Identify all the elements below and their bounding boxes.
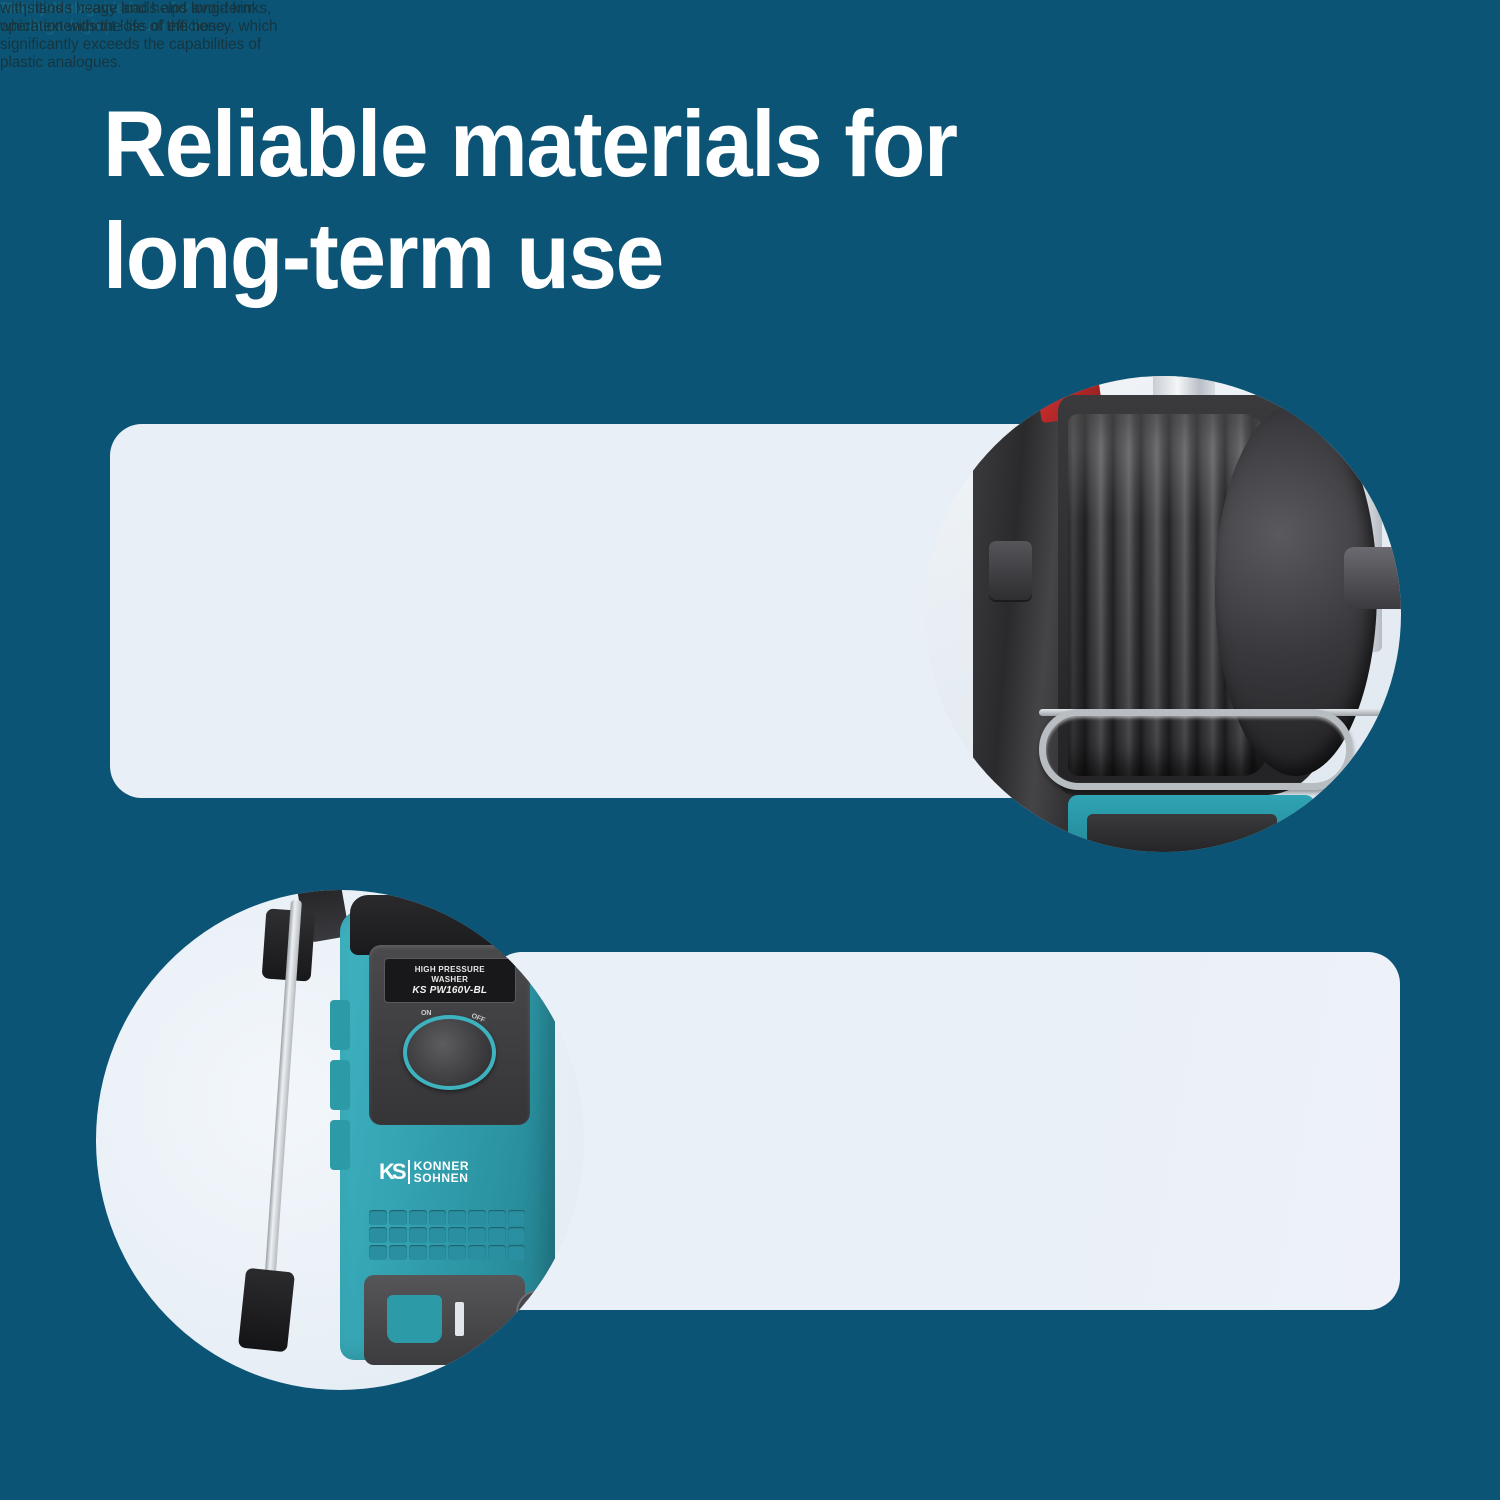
vent-slot xyxy=(409,1245,427,1260)
power-switch-dial[interactable]: ON OFF xyxy=(403,1015,496,1090)
vent-slot xyxy=(389,1245,407,1260)
grip-rib xyxy=(330,1120,350,1170)
vent-slot xyxy=(448,1210,466,1225)
vent-slot xyxy=(429,1227,447,1242)
pressure-washer-body-photo: HIGH PRESSURE WASHER KS PW160V-BL ON OFF… xyxy=(96,890,584,1390)
vent-slot xyxy=(389,1210,407,1225)
vent-slot xyxy=(369,1227,387,1242)
feature-card-metal-jet-tube-body: withstands heavy loads and long-term ope… xyxy=(0,0,277,72)
vent-slot xyxy=(488,1245,506,1260)
water-inlet-port xyxy=(516,1290,560,1335)
brand-monogram-icon: KS xyxy=(379,1162,404,1182)
vent-slot xyxy=(508,1210,526,1225)
grip-rib xyxy=(330,1000,350,1050)
vent-slot xyxy=(468,1210,486,1225)
brand-logo: KS KONNER SOHNEN xyxy=(379,1160,469,1184)
vent-slot xyxy=(508,1227,526,1242)
feature-card-metal-jet-tube xyxy=(490,952,1400,1310)
logo-divider xyxy=(408,1160,410,1184)
vent-slot xyxy=(429,1245,447,1260)
label-line-1: HIGH PRESSURE xyxy=(415,965,485,974)
jet-tube-bottom-cap xyxy=(238,1268,295,1353)
vent-slot xyxy=(468,1227,486,1242)
guide-frame-loop xyxy=(1039,709,1353,790)
machine-dark-base xyxy=(1087,814,1277,852)
hose-reel-drum-photo xyxy=(925,376,1401,852)
vent-slot xyxy=(369,1245,387,1260)
vent-slot xyxy=(488,1210,506,1225)
vent-slot xyxy=(468,1245,486,1260)
brand-name: KONNER SOHNEN xyxy=(414,1160,470,1184)
label-line-2: WASHER xyxy=(431,975,468,984)
vent-slot xyxy=(409,1227,427,1242)
grip-rib xyxy=(330,1060,350,1110)
switch-on-label: ON xyxy=(421,1010,432,1017)
vent-slot xyxy=(488,1227,506,1242)
vent-slot xyxy=(448,1245,466,1260)
brand-name-line-2: SOHNEN xyxy=(414,1172,470,1184)
vent-slot xyxy=(508,1245,526,1260)
ventilation-grille xyxy=(369,1210,525,1260)
label-model-number: KS PW160V-BL xyxy=(412,985,487,996)
drum-hub-knob xyxy=(1344,547,1401,609)
accessory-tray xyxy=(364,1275,525,1365)
vent-slot xyxy=(409,1210,427,1225)
vent-slot xyxy=(369,1210,387,1225)
product-model-label: HIGH PRESSURE WASHER KS PW160V-BL xyxy=(384,958,516,1003)
vent-slot xyxy=(429,1210,447,1225)
vent-slot xyxy=(389,1227,407,1242)
page-title: Reliable materials for long-term use xyxy=(103,88,1145,312)
housing-side-grips xyxy=(330,1000,350,1170)
vent-slot xyxy=(448,1227,466,1242)
